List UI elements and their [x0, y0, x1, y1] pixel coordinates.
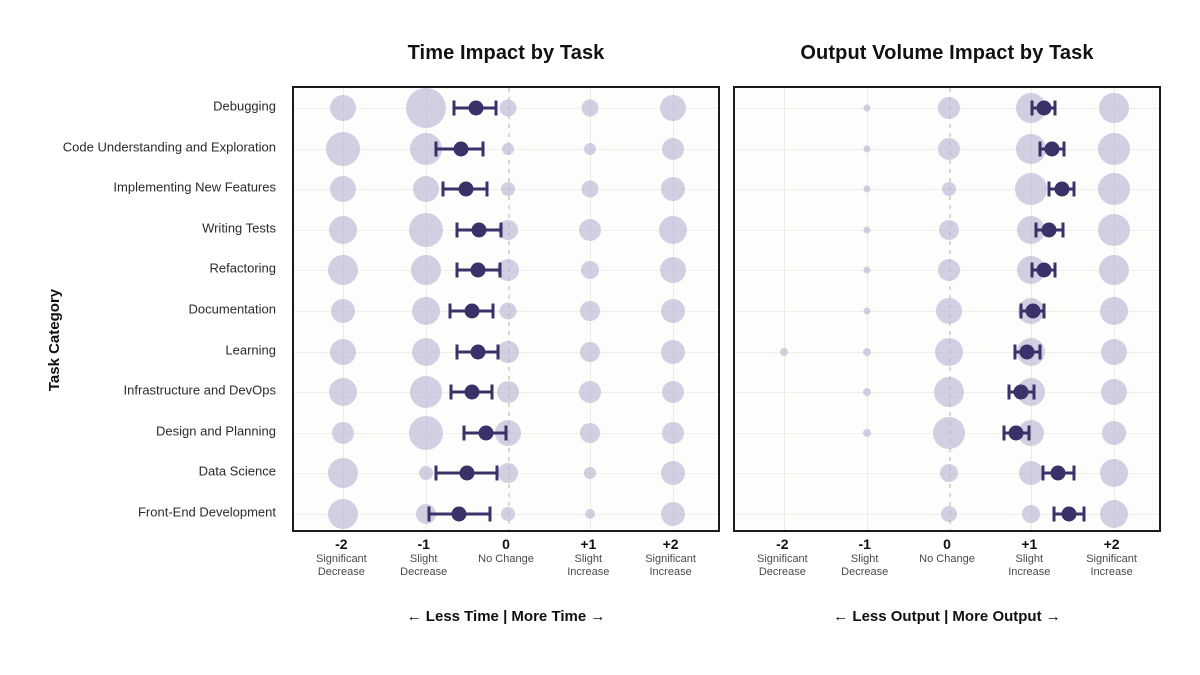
confidence-interval-cap-low	[463, 425, 466, 440]
mean-point[interactable]	[459, 466, 474, 481]
distribution-bubble	[863, 186, 870, 193]
confidence-interval-cap-low	[1008, 385, 1011, 400]
distribution-bubble	[497, 381, 519, 403]
confidence-interval-cap-low	[455, 263, 458, 278]
distribution-bubble	[1019, 461, 1043, 485]
distribution-bubble	[863, 226, 870, 233]
distribution-bubble	[582, 100, 599, 117]
mean-point[interactable]	[1051, 466, 1066, 481]
distribution-bubble	[409, 213, 443, 247]
confidence-interval-cap-high	[491, 385, 494, 400]
distribution-bubble	[501, 182, 515, 196]
distribution-bubble	[863, 308, 870, 315]
distribution-bubble	[661, 502, 685, 526]
distribution-bubble	[580, 301, 600, 321]
category-label: Infrastructure and DevOps	[124, 383, 276, 398]
distribution-bubble	[582, 181, 599, 198]
distribution-bubble	[329, 216, 357, 244]
x-axis-tick-description: SignificantIncrease	[1057, 553, 1167, 579]
confidence-interval-cap-low	[427, 507, 430, 522]
distribution-bubble	[328, 255, 358, 285]
confidence-interval-cap-low	[452, 101, 455, 116]
confidence-interval-cap-high	[1038, 344, 1041, 359]
distribution-bubble	[660, 257, 686, 283]
distribution-bubble	[1099, 93, 1129, 123]
distribution-bubble	[498, 463, 518, 483]
distribution-bubble	[500, 303, 517, 320]
confidence-interval-cap-low	[435, 466, 438, 481]
distribution-bubble	[329, 378, 357, 406]
confidence-interval-cap-high	[494, 101, 497, 116]
chart-title-time-impact: Time Impact by Task	[292, 42, 720, 65]
plot-area-time-impact	[294, 88, 718, 530]
mean-point[interactable]	[464, 385, 479, 400]
chart-title-output-volume-impact: Output Volume Impact by Task	[733, 42, 1161, 65]
mean-point[interactable]	[1009, 425, 1024, 440]
distribution-bubble	[661, 340, 685, 364]
distribution-bubble	[502, 143, 514, 155]
confidence-interval-cap-high	[1054, 263, 1057, 278]
distribution-bubble	[1100, 297, 1128, 325]
distribution-bubble	[863, 429, 871, 437]
confidence-interval-cap-high	[486, 182, 489, 197]
distribution-bubble	[411, 255, 441, 285]
distribution-bubble	[412, 338, 440, 366]
confidence-interval-cap-high	[1054, 101, 1057, 116]
confidence-interval-cap-low	[1035, 222, 1038, 237]
mean-point[interactable]	[452, 507, 467, 522]
confidence-interval-cap-low	[1013, 344, 1016, 359]
distribution-bubble	[662, 381, 684, 403]
mean-point[interactable]	[1036, 263, 1051, 278]
confidence-interval-cap-high	[482, 141, 485, 156]
distribution-bubble	[328, 458, 358, 488]
mean-point[interactable]	[1025, 304, 1040, 319]
distribution-bubble	[1100, 459, 1128, 487]
confidence-interval-cap-high	[1061, 222, 1064, 237]
distribution-bubble	[863, 145, 870, 152]
distribution-bubble	[938, 259, 960, 281]
distribution-bubble	[939, 220, 959, 240]
distribution-bubble	[584, 143, 596, 155]
distribution-bubble	[584, 467, 596, 479]
confidence-interval-cap-low	[450, 385, 453, 400]
distribution-bubble	[942, 182, 956, 196]
mean-point[interactable]	[1020, 344, 1035, 359]
mean-point[interactable]	[459, 182, 474, 197]
x-axis-tick: +2SignificantIncrease	[1057, 536, 1167, 579]
distribution-bubble	[497, 341, 519, 363]
mean-point[interactable]	[472, 222, 487, 237]
mean-point[interactable]	[468, 101, 483, 116]
x-axis-tick-description: SignificantIncrease	[616, 553, 726, 579]
distribution-bubble	[330, 339, 356, 365]
plot-area-output-volume-impact	[735, 88, 1159, 530]
distribution-bubble	[328, 499, 358, 529]
distribution-bubble	[581, 261, 599, 279]
distribution-bubble	[1099, 255, 1129, 285]
x-axis-tick: +2SignificantIncrease	[616, 536, 726, 579]
figure-root: Task Category DebuggingCode Understandin…	[0, 0, 1200, 675]
mean-point[interactable]	[1044, 141, 1059, 156]
confidence-interval-cap-high	[498, 263, 501, 278]
confidence-interval-cap-high	[1032, 385, 1035, 400]
category-label: Front-End Development	[138, 505, 276, 520]
distribution-bubble	[863, 105, 870, 112]
distribution-bubble	[332, 422, 354, 444]
distribution-bubble	[940, 464, 958, 482]
distribution-bubble	[579, 381, 601, 403]
mean-point[interactable]	[1054, 182, 1069, 197]
distribution-bubble	[1101, 339, 1127, 365]
mean-point[interactable]	[1036, 101, 1051, 116]
mean-point[interactable]	[470, 263, 485, 278]
category-label: Refactoring	[210, 261, 276, 276]
distribution-bubble	[326, 132, 360, 166]
distribution-bubble	[409, 416, 443, 450]
distribution-bubble	[1098, 173, 1130, 205]
distribution-bubble	[419, 466, 433, 480]
confidence-interval-cap-high	[497, 344, 500, 359]
category-label: Code Understanding and Exploration	[63, 139, 276, 154]
confidence-interval-cap-high	[1027, 425, 1030, 440]
mean-point[interactable]	[471, 344, 486, 359]
confidence-interval-cap-low	[455, 344, 458, 359]
distribution-bubble	[935, 338, 963, 366]
distribution-bubble	[1022, 505, 1040, 523]
mean-point[interactable]	[1062, 507, 1077, 522]
distribution-bubble	[661, 177, 685, 201]
distribution-bubble	[1100, 500, 1128, 528]
distribution-bubble	[941, 506, 957, 522]
distribution-bubble	[413, 176, 439, 202]
mean-point[interactable]	[1042, 222, 1057, 237]
distribution-bubble	[662, 422, 684, 444]
distribution-bubble	[500, 100, 517, 117]
confidence-interval-cap-low	[1020, 304, 1023, 319]
x-axis-ticks-output-volume-impact: -2SignificantDecrease-1SlightDecrease0No…	[733, 536, 1161, 596]
confidence-interval-cap-low	[455, 222, 458, 237]
distribution-bubble	[410, 376, 442, 408]
distribution-bubble	[406, 88, 446, 128]
x-axis-caption-output-volume-impact: ← Less Output | More Output →	[733, 608, 1161, 630]
confidence-interval-cap-low	[1048, 182, 1051, 197]
distribution-bubble	[412, 297, 440, 325]
confidence-interval-cap-high	[492, 304, 495, 319]
distribution-bubble	[585, 509, 595, 519]
confidence-interval-cap-high	[1063, 141, 1066, 156]
category-label: Design and Planning	[156, 423, 276, 438]
confidence-interval-cap-high	[1073, 466, 1076, 481]
distribution-bubble	[936, 298, 962, 324]
distribution-bubble	[331, 299, 355, 323]
distribution-bubble	[660, 95, 686, 121]
x-axis-caption-time-impact: ← Less Time | More Time →	[292, 608, 720, 630]
confidence-interval-cap-low	[1038, 141, 1041, 156]
distribution-bubble	[933, 417, 965, 449]
confidence-interval-cap-low	[435, 141, 438, 156]
category-label: Debugging	[213, 99, 276, 114]
confidence-interval-cap-low	[449, 304, 452, 319]
confidence-interval-cap-high	[504, 425, 507, 440]
confidence-interval-cap-high	[488, 507, 491, 522]
distribution-bubble	[1015, 173, 1047, 205]
confidence-interval-cap-low	[1031, 263, 1034, 278]
mean-point[interactable]	[454, 141, 469, 156]
confidence-interval-cap-high	[1073, 182, 1076, 197]
confidence-interval-cap-low	[1003, 425, 1006, 440]
distribution-bubble	[1102, 421, 1126, 445]
distribution-bubble	[659, 216, 687, 244]
x-axis-tick-number: +2	[1057, 536, 1167, 553]
confidence-interval-cap-high	[1082, 507, 1085, 522]
x-axis-ticks-time-impact: -2SignificantDecrease-1SlightDecrease0No…	[292, 536, 720, 596]
mean-point[interactable]	[464, 304, 479, 319]
distribution-bubble	[1098, 133, 1130, 165]
confidence-interval-cap-low	[1053, 507, 1056, 522]
confidence-interval-cap-high	[496, 466, 499, 481]
distribution-bubble	[579, 219, 601, 241]
distribution-bubble	[330, 176, 356, 202]
category-label: Implementing New Features	[113, 180, 276, 195]
mean-point[interactable]	[478, 425, 493, 440]
distribution-bubble	[780, 348, 788, 356]
distribution-bubble	[863, 348, 871, 356]
distribution-bubble	[501, 507, 515, 521]
distribution-bubble	[863, 267, 870, 274]
distribution-bubble	[934, 377, 964, 407]
mean-point[interactable]	[1014, 385, 1029, 400]
plot-panel-output-volume-impact	[733, 86, 1161, 532]
distribution-bubble	[938, 97, 960, 119]
distribution-bubble	[863, 388, 871, 396]
category-label: Data Science	[199, 464, 276, 479]
distribution-bubble	[661, 299, 685, 323]
confidence-interval-cap-high	[1043, 304, 1046, 319]
distribution-bubble	[580, 342, 600, 362]
distribution-bubble	[938, 138, 960, 160]
confidence-interval-cap-low	[441, 182, 444, 197]
distribution-bubble	[662, 138, 684, 160]
confidence-interval-cap-low	[1041, 466, 1044, 481]
category-label-list: DebuggingCode Understanding and Explorat…	[0, 86, 284, 532]
distribution-bubble	[330, 95, 356, 121]
distribution-bubble	[1098, 214, 1130, 246]
category-label: Documentation	[189, 302, 276, 317]
category-label: Learning	[225, 342, 276, 357]
confidence-interval-cap-high	[500, 222, 503, 237]
plot-panel-time-impact	[292, 86, 720, 532]
x-axis-tick-number: +2	[616, 536, 726, 553]
category-label: Writing Tests	[202, 220, 276, 235]
vertical-gridline	[784, 88, 785, 530]
distribution-bubble	[1101, 379, 1127, 405]
confidence-interval-cap-low	[1031, 101, 1034, 116]
distribution-bubble	[661, 461, 685, 485]
distribution-bubble	[580, 423, 600, 443]
